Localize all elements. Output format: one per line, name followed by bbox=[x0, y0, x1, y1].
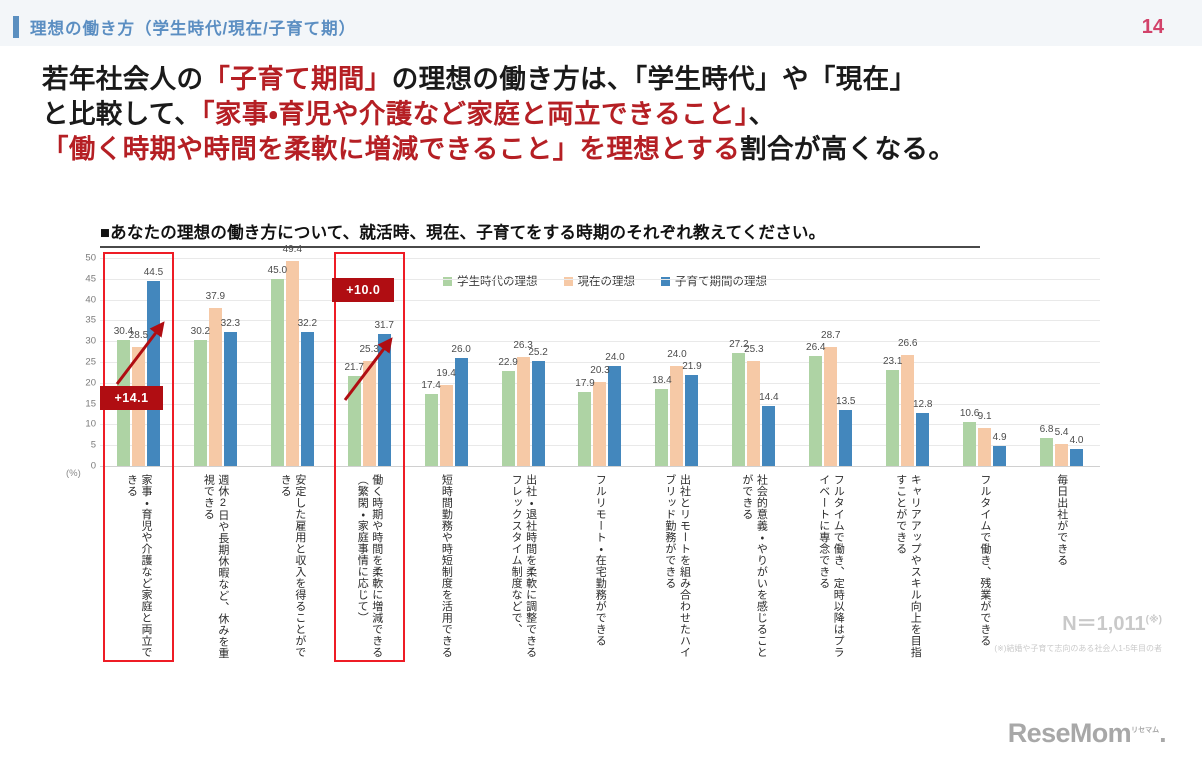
bar-group-6 bbox=[562, 258, 639, 466]
bar-value-label: 24.0 bbox=[605, 352, 624, 363]
bar-value-label: 4.9 bbox=[993, 432, 1007, 443]
bar-group-9 bbox=[792, 258, 869, 466]
sample-size-value: N＝1,011 bbox=[1062, 613, 1145, 635]
bar-value-label: 13.5 bbox=[836, 396, 855, 407]
y-tick-label: 35 bbox=[68, 315, 96, 326]
bar-0-4 bbox=[425, 394, 438, 466]
category-label-7: 出社とリモートを組み合わせたハイブリッド勤務ができる bbox=[662, 474, 691, 664]
bar-group-1 bbox=[177, 258, 254, 466]
bar-0-11 bbox=[963, 422, 976, 466]
bar-group-2 bbox=[254, 258, 331, 466]
y-tick-label: 5 bbox=[68, 440, 96, 451]
headline-seg-1a: 若年社会人の bbox=[42, 64, 203, 94]
bar-group-bars bbox=[254, 258, 331, 466]
bar-2-10 bbox=[916, 413, 929, 466]
increase-badge-0: +14.1 bbox=[100, 386, 162, 410]
headline-line-2: と比較して、「家事・育児や介護など家庭と両立できること」、 bbox=[42, 97, 1172, 132]
bar-1-10 bbox=[901, 355, 914, 466]
y-tick-label: 50 bbox=[68, 253, 96, 264]
bar-2-8 bbox=[762, 406, 775, 466]
bar-2-1 bbox=[224, 332, 237, 466]
bar-1-6 bbox=[593, 382, 606, 466]
headline-seg-2c: 、 bbox=[749, 99, 776, 129]
bar-value-label: 21.9 bbox=[682, 361, 701, 372]
sample-size-suffix: (※) bbox=[1146, 614, 1162, 625]
bar-1-12 bbox=[1055, 444, 1068, 466]
y-axis-unit: (%) bbox=[66, 468, 81, 479]
bar-value-label: 10.6 bbox=[960, 408, 979, 419]
bar-value-label: 28.7 bbox=[821, 330, 840, 341]
bar-value-label: 32.3 bbox=[221, 318, 240, 329]
bar-value-label: 18.4 bbox=[652, 375, 671, 386]
bar-value-label: 26.0 bbox=[451, 344, 470, 355]
headline-seg-3b: を理想とする bbox=[579, 134, 740, 164]
increase-arrow-icon bbox=[111, 318, 171, 390]
bar-group-5 bbox=[485, 258, 562, 466]
x-axis-line bbox=[100, 466, 1100, 467]
bar-value-label: 9.1 bbox=[978, 411, 992, 422]
chart-plot-area: 30.428.544.530.237.932.345.049.432.221.7… bbox=[100, 258, 1100, 466]
bar-value-label: 31.7 bbox=[374, 320, 393, 331]
bar-2-6 bbox=[608, 366, 621, 466]
bar-2-9 bbox=[839, 410, 852, 466]
y-tick-label: 45 bbox=[68, 273, 96, 284]
category-label-4: 短時間勤務や時短制度を活用できる bbox=[439, 474, 454, 664]
headline-seg-1c: の理想の働き方は、「学生時代」や「現在」 bbox=[392, 64, 917, 94]
bar-2-5 bbox=[532, 361, 545, 466]
bar-0-9 bbox=[809, 356, 822, 466]
bar-value-label: 32.2 bbox=[298, 318, 317, 329]
question-divider bbox=[100, 246, 980, 248]
footnote: (※)結婚や子育て志向のある社会人1-5年目の者 bbox=[994, 643, 1162, 654]
y-tick-label: 15 bbox=[68, 398, 96, 409]
bar-group-bars bbox=[485, 258, 562, 466]
bar-group-10 bbox=[869, 258, 946, 466]
bar-group-bars bbox=[792, 258, 869, 466]
category-label-1: 週休2日や長期休暇など、休みを重視できる bbox=[201, 474, 230, 664]
bar-value-label: 4.0 bbox=[1070, 435, 1084, 446]
bar-1-8 bbox=[747, 361, 760, 466]
bar-value-label: 30.2 bbox=[191, 326, 210, 337]
bar-value-label: 23.1 bbox=[883, 356, 902, 367]
bar-value-label: 17.9 bbox=[575, 378, 594, 389]
category-label-9: フルタイムで働き、定時以降はプライベートに専念できる bbox=[816, 474, 845, 664]
bar-0-10 bbox=[886, 370, 899, 466]
bar-value-label: 49.4 bbox=[283, 244, 302, 255]
bar-group-bars bbox=[715, 258, 792, 466]
headline-seg-2a: と比較して、 bbox=[42, 99, 201, 129]
header-accent-bar bbox=[13, 16, 19, 38]
bar-value-label: 25.3 bbox=[744, 344, 763, 355]
bar-value-label: 45.0 bbox=[268, 265, 287, 276]
y-tick-label: 25 bbox=[68, 357, 96, 368]
bar-group-bars bbox=[562, 258, 639, 466]
increase-badge-3: +10.0 bbox=[332, 278, 394, 302]
bar-group-bars bbox=[638, 258, 715, 466]
headline-line-3: 「働く時期や時間を柔軟に増減できること」を理想とする割合が高くなる。 bbox=[42, 132, 1172, 167]
bar-value-label: 5.4 bbox=[1055, 427, 1069, 438]
bar-group-bars bbox=[946, 258, 1023, 466]
bar-value-label: 17.4 bbox=[421, 380, 440, 391]
bar-0-6 bbox=[578, 392, 591, 466]
bar-2-11 bbox=[993, 446, 1006, 466]
slide-root: 理想の働き方（学生時代/現在/子育て期） 14 若年社会人の「子育て期間」の理想… bbox=[0, 0, 1202, 767]
category-label-5: 出社・退社時間を柔軟に調整できるフレックスタイム制度などで、 bbox=[509, 474, 538, 664]
y-tick-label: 30 bbox=[68, 336, 96, 347]
bar-value-label: 12.8 bbox=[913, 399, 932, 410]
bar-1-1 bbox=[209, 308, 222, 466]
category-label-11: フルタイムで働き、残業ができる bbox=[977, 474, 992, 664]
chart-question: ■あなたの理想の働き方について、就活時、現在、子育てをする時期のそれぞれ教えてく… bbox=[100, 219, 825, 243]
bar-1-5 bbox=[517, 357, 530, 466]
headline-line-1: 若年社会人の「子育て期間」の理想の働き方は、「学生時代」や「現在」 bbox=[42, 62, 1172, 97]
category-label-0: 家事・育児や介護など家庭と両立できる bbox=[124, 474, 153, 664]
bar-1-7 bbox=[670, 366, 683, 466]
y-tick-label: 20 bbox=[68, 377, 96, 388]
brand-name: ReseMom bbox=[1008, 718, 1131, 748]
brand-dot: . bbox=[1159, 718, 1166, 748]
header-title: 理想の働き方（学生時代/現在/子育て期） bbox=[30, 15, 356, 39]
bar-group-11 bbox=[946, 258, 1023, 466]
sample-size-note: N＝1,011(※) bbox=[1062, 607, 1162, 636]
bar-group-bars bbox=[869, 258, 946, 466]
bar-group-bars bbox=[177, 258, 254, 466]
bar-value-label: 19.4 bbox=[436, 368, 455, 379]
bar-0-2 bbox=[271, 279, 284, 466]
category-label-8: 社会的意義・やりがいを感じることができる bbox=[739, 474, 768, 664]
bar-2-2 bbox=[301, 332, 314, 466]
headline: 若年社会人の「子育て期間」の理想の働き方は、「学生時代」や「現在」 と比較して、… bbox=[42, 62, 1172, 167]
bar-group-7 bbox=[638, 258, 715, 466]
bar-value-label: 44.5 bbox=[144, 267, 163, 278]
headline-seg-1b: 「子育て期間」 bbox=[203, 64, 391, 94]
bar-value-label: 6.8 bbox=[1040, 424, 1054, 435]
bar-0-12 bbox=[1040, 438, 1053, 466]
category-label-2: 安定した雇用と収入を得ることができる bbox=[278, 474, 307, 664]
bar-2-7 bbox=[685, 375, 698, 466]
category-label-3: 働く時期や時間を柔軟に増減できる（繁閑・家庭事情に応じて） bbox=[355, 474, 384, 664]
bar-value-label: 26.4 bbox=[806, 342, 825, 353]
bar-value-label: 20.3 bbox=[590, 365, 609, 376]
category-label-6: フルリモート・在宅勤務ができる bbox=[593, 474, 608, 664]
category-label-10: キャリアアップやスキル向上を目指すことができる bbox=[893, 474, 922, 664]
bar-1-11 bbox=[978, 428, 991, 466]
bar-group-8 bbox=[715, 258, 792, 466]
bar-1-4 bbox=[440, 385, 453, 466]
bar-0-8 bbox=[732, 353, 745, 466]
bar-group-4 bbox=[408, 258, 485, 466]
headline-seg-3c: 割合が高くなる。 bbox=[740, 134, 955, 164]
bar-value-label: 22.9 bbox=[498, 357, 517, 368]
headline-seg-2b: 「家事・育児や介護など家庭と両立できること」 bbox=[201, 99, 748, 129]
bar-2-12 bbox=[1070, 449, 1083, 466]
bar-1-2 bbox=[286, 261, 299, 467]
bar-value-label: 25.2 bbox=[528, 347, 547, 358]
bar-group-bars bbox=[408, 258, 485, 466]
bar-value-label: 24.0 bbox=[667, 349, 686, 360]
increase-arrow-icon bbox=[339, 334, 399, 406]
resemom-logo: ReseMomリセマム. bbox=[1008, 718, 1166, 749]
bar-value-label: 14.4 bbox=[759, 392, 778, 403]
headline-seg-3a: 「働く時期や時間を柔軟に増減できること」 bbox=[42, 134, 579, 164]
y-tick-label: 10 bbox=[68, 419, 96, 430]
y-tick-label: 40 bbox=[68, 294, 96, 305]
bar-0-1 bbox=[194, 340, 207, 466]
bar-0-5 bbox=[502, 371, 515, 466]
brand-sup: リセマム bbox=[1131, 727, 1159, 734]
page-number: 14 bbox=[1142, 16, 1164, 39]
bar-0-7 bbox=[655, 389, 668, 466]
bar-value-label: 37.9 bbox=[206, 291, 225, 302]
bar-2-4 bbox=[455, 358, 468, 466]
bar-value-label: 26.6 bbox=[898, 338, 917, 349]
